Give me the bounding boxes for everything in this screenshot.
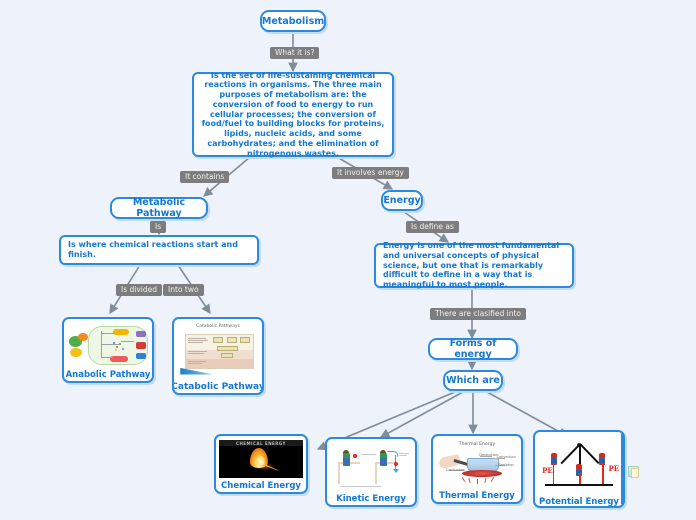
- chemical-energy-image: CHEMICAL ENERGY: [219, 440, 303, 478]
- edge-label-into-two[interactable]: Into two: [163, 284, 204, 296]
- mindmap-canvas[interactable]: Metabolism What it is? Is the set of lif…: [0, 0, 696, 520]
- picnode-potential-energy[interactable]: PE PE Potential Energy: [533, 430, 625, 508]
- node-forms-of-energy-label: Forms of energy: [430, 338, 516, 360]
- image-placeholder-icon: [631, 468, 639, 478]
- node-metabolic-pathway-definition-text: Is where chemical reactions start and fi…: [68, 240, 250, 260]
- node-energy-definition-text: Energy is one of the most fundamental an…: [383, 241, 565, 290]
- edge-label-it-contains-text: It contains: [185, 172, 224, 181]
- picnode-chemical-energy-caption: Chemical Energy: [221, 480, 301, 492]
- edge-label-is-text: Is: [155, 222, 161, 231]
- anabolic-pathway-image: [67, 323, 149, 367]
- picnode-kinetic-energy-caption: Kinetic Energy: [336, 493, 406, 505]
- kinetic-energy-image: [330, 443, 412, 491]
- pe-label-left: PE: [542, 466, 553, 475]
- edge-label-into-two-text: Into two: [168, 285, 199, 294]
- node-metabolism-definition-text: Is the set of life-sustaining chemical r…: [201, 71, 385, 159]
- edge-label-is-define-as[interactable]: Is define as: [406, 221, 459, 233]
- picnode-thermal-energy[interactable]: Thermal Energy Conduction Convection Rad…: [431, 434, 523, 504]
- node-which-are[interactable]: Which are: [443, 370, 503, 391]
- catabolic-pathway-image-title: Catabolic Pathways: [184, 324, 253, 332]
- node-forms-of-energy[interactable]: Forms of energy: [428, 338, 518, 360]
- thermal-energy-image-title: Thermal Energy: [436, 442, 518, 447]
- edge-label-it-involves-energy-text: It involves energy: [337, 168, 404, 177]
- edge-label-is[interactable]: Is: [150, 221, 166, 233]
- picnode-catabolic-pathway-caption: Catabolic Pathway: [172, 381, 264, 393]
- node-metabolic-pathway-definition[interactable]: Is where chemical reactions start and fi…: [59, 235, 259, 265]
- image-placeholder-chip[interactable]: [628, 466, 639, 477]
- picnode-catabolic-pathway[interactable]: Catabolic Pathways: [172, 317, 264, 395]
- edge-label-it-involves-energy[interactable]: It involves energy: [332, 167, 409, 179]
- edge-label-is-divided-text: Is divided: [121, 285, 157, 294]
- thermal-energy-image: Thermal Energy Conduction Convection Rad…: [436, 440, 518, 488]
- edge-label-it-contains[interactable]: It contains: [180, 171, 229, 183]
- node-energy[interactable]: Energy: [381, 190, 423, 211]
- picnode-anabolic-pathway-caption: Anabolic Pathway: [66, 369, 151, 381]
- node-metabolism-label: Metabolism: [262, 16, 324, 27]
- potential-energy-image: PE PE: [538, 436, 620, 494]
- edge-label-there-are-clasified-into[interactable]: There are clasified into: [430, 308, 526, 320]
- canvas-right-rail[interactable]: [621, 432, 623, 504]
- node-energy-definition[interactable]: Energy is one of the most fundamental an…: [374, 243, 574, 288]
- node-metabolism[interactable]: Metabolism: [260, 10, 326, 32]
- picnode-anabolic-pathway[interactable]: Anabolic Pathway: [62, 317, 154, 383]
- picnode-kinetic-energy[interactable]: Kinetic Energy: [325, 437, 417, 507]
- picnode-chemical-energy[interactable]: CHEMICAL ENERGY Chemical Energy: [214, 434, 308, 494]
- node-metabolism-definition[interactable]: Is the set of life-sustaining chemical r…: [192, 72, 394, 157]
- edge-label-what-it-is-text: What it is?: [275, 48, 314, 57]
- catabolic-pathway-image: Catabolic Pathways: [177, 323, 259, 379]
- edge-label-is-define-as-text: Is define as: [411, 222, 454, 231]
- pe-label-right: PE: [609, 464, 620, 473]
- node-energy-label: Energy: [383, 195, 420, 206]
- edge-label-is-divided[interactable]: Is divided: [116, 284, 162, 296]
- node-which-are-label: Which are: [446, 375, 500, 386]
- node-metabolic-pathway-label: Metabolic Pathway: [112, 197, 206, 219]
- chemical-energy-image-title: CHEMICAL ENERGY: [219, 440, 303, 446]
- edge-label-what-it-is[interactable]: What it is?: [270, 47, 319, 59]
- edge-label-there-are-clasified-into-text: There are clasified into: [435, 309, 521, 318]
- picnode-potential-energy-caption: Potential Energy: [539, 496, 619, 508]
- node-metabolic-pathway[interactable]: Metabolic Pathway: [110, 197, 208, 219]
- picnode-thermal-energy-caption: Thermal Energy: [439, 490, 515, 502]
